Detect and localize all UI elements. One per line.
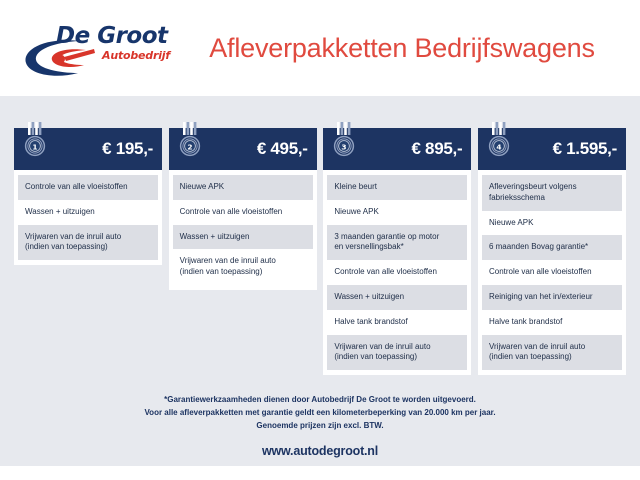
package-item: Wassen + uitzuigen	[18, 200, 158, 225]
package-item: Kleine beurt	[327, 175, 467, 200]
package-item: Controle van alle vloeistoffen	[327, 260, 467, 285]
medal-icon: 3	[331, 122, 357, 160]
package-item: Wassen + uitzuigen	[173, 225, 313, 250]
logo-name: De Groot	[56, 23, 168, 49]
svg-text:1: 1	[32, 142, 37, 151]
medal-icon: 4	[486, 122, 512, 160]
package-item: Vrijwaren van de inruil auto(indien van …	[173, 249, 313, 285]
package-item: 3 maanden garantie op motoren versnellin…	[327, 225, 467, 261]
svg-text:3: 3	[342, 142, 347, 151]
footer: *Garantiewerkzaamheden dienen door Autob…	[0, 394, 640, 458]
package-header: 2 € 495,-	[169, 128, 317, 170]
medal-icon: 1	[22, 122, 48, 160]
svg-text:4: 4	[496, 142, 501, 151]
medal-icon: 2	[177, 122, 203, 160]
footer-line: *Garantiewerkzaamheden dienen door Autob…	[0, 394, 640, 407]
package-item: 6 maanden Bovag garantie*	[482, 235, 622, 260]
package-item: Vrijwaren van de inruil auto(indien van …	[18, 225, 158, 261]
package-price: € 1.595,-	[553, 139, 617, 159]
package-item-list: Kleine beurtNieuwe APK3 maanden garantie…	[323, 170, 471, 375]
package-item: Controle van alle vloeistoffen	[482, 260, 622, 285]
package-item-list: Afleveringsbeurt volgensfabrieksschemaNi…	[478, 170, 626, 375]
package-price: € 895,-	[411, 139, 462, 159]
package-column: 2 € 495,-Nieuwe APKControle van alle vlo…	[169, 128, 317, 290]
package-item: Afleveringsbeurt volgensfabrieksschema	[482, 175, 622, 211]
package-price: € 195,-	[102, 139, 153, 159]
packages-container: 1 € 195,-Controle van alle vloeistoffenW…	[0, 128, 640, 375]
website-url[interactable]: www.autodegroot.nl	[0, 444, 640, 458]
package-column: 1 € 195,-Controle van alle vloeistoffenW…	[14, 128, 162, 265]
footer-line: Genoemde prijzen zijn excl. BTW.	[0, 420, 640, 433]
page-title: Afleverpakketten Bedrijfswagens	[176, 33, 640, 64]
svg-text:2: 2	[187, 142, 192, 151]
package-item: Halve tank brandstof	[482, 310, 622, 335]
package-item-list: Controle van alle vloeistoffenWassen + u…	[14, 170, 162, 265]
package-item: Wassen + uitzuigen	[327, 285, 467, 310]
logo-subtitle: Autobedrijf	[102, 49, 170, 62]
package-item: Controle van alle vloeistoffen	[173, 200, 313, 225]
package-item-list: Nieuwe APKControle van alle vloeistoffen…	[169, 170, 317, 290]
brand-logo[interactable]: De Groot Autobedrijf	[18, 13, 176, 83]
package-item: Nieuwe APK	[482, 211, 622, 236]
package-price: € 495,-	[257, 139, 308, 159]
package-item: Nieuwe APK	[327, 200, 467, 225]
package-header: 1 € 195,-	[14, 128, 162, 170]
package-column: 3 € 895,-Kleine beurtNieuwe APK3 maanden…	[323, 128, 471, 375]
package-item: Halve tank brandstof	[327, 310, 467, 335]
package-item: Controle van alle vloeistoffen	[18, 175, 158, 200]
package-column: 4 € 1.595,-Afleveringsbeurt volgensfabri…	[478, 128, 626, 375]
package-item: Vrijwaren van de inruil auto(indien van …	[482, 335, 622, 371]
package-header: 4 € 1.595,-	[478, 128, 626, 170]
flyer-page: De Groot Autobedrijf Afleverpakketten Be…	[0, 0, 640, 480]
footer-white-strip	[0, 466, 640, 480]
package-header: 3 € 895,-	[323, 128, 471, 170]
page-header: De Groot Autobedrijf Afleverpakketten Be…	[0, 0, 640, 96]
package-item: Reiniging van het in/exterieur	[482, 285, 622, 310]
footer-line: Voor alle afleverpakketten met garantie …	[0, 407, 640, 420]
package-item: Vrijwaren van de inruil auto(indien van …	[327, 335, 467, 371]
package-item: Nieuwe APK	[173, 175, 313, 200]
